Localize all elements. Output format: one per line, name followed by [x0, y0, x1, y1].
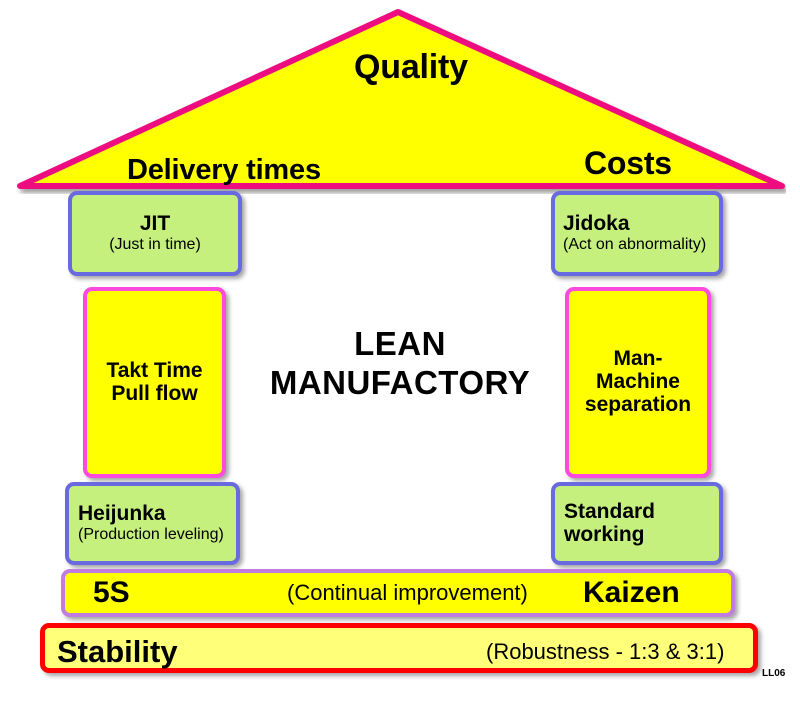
lean-house-diagram: Quality Delivery times Costs JIT (Just i… — [0, 0, 800, 705]
roof-label-quality: Quality — [354, 48, 468, 87]
watermark-label: LL06 — [762, 668, 785, 679]
foundation-label-continual-improvement: (Continual improvement) — [287, 580, 528, 606]
foundation-label-stability: Stability — [57, 634, 178, 670]
pillar-box-takt-time[interactable]: Takt TimePull flow — [83, 287, 226, 478]
pillar-box-jidoka-title: Jidoka — [563, 213, 630, 236]
pillar-box-jidoka-subtitle: (Act on abnormality) — [563, 236, 706, 254]
pillar-box-man-machine-separation-title: Man-Machineseparation — [585, 348, 691, 416]
pillar-box-jit-subtitle: (Just in time) — [109, 236, 201, 254]
pillar-box-heijunka[interactable]: Heijunka (Production leveling) — [65, 482, 240, 565]
pillar-box-jidoka[interactable]: Jidoka (Act on abnormality) — [551, 191, 723, 276]
roof-label-costs: Costs — [584, 145, 672, 182]
pillar-box-jit[interactable]: JIT (Just in time) — [68, 191, 242, 276]
foundation-label-robustness: (Robustness - 1:3 & 3:1) — [486, 639, 724, 665]
pillar-box-heijunka-subtitle: (Production leveling) — [78, 526, 224, 544]
foundation-label-kaizen: Kaizen — [583, 576, 680, 610]
foundation-label-5s: 5S — [93, 576, 130, 610]
pillar-box-standard-working-title: Standardworking — [564, 501, 655, 546]
pillar-box-jit-title: JIT — [140, 213, 170, 236]
roof-label-delivery-times: Delivery times — [127, 154, 321, 187]
pillar-box-man-machine-separation[interactable]: Man-Machineseparation — [565, 287, 711, 478]
pillar-box-heijunka-title: Heijunka — [78, 503, 166, 526]
center-caption: LEANMANUFACTORY — [250, 325, 550, 403]
pillar-box-standard-working[interactable]: Standardworking — [551, 482, 723, 565]
pillar-box-takt-time-title: Takt TimePull flow — [106, 360, 202, 405]
roof: Quality Delivery times Costs — [14, 8, 786, 194]
foundation-bar-stability[interactable]: Stability (Robustness - 1:3 & 3:1) — [40, 623, 758, 673]
foundation-bar-improvement[interactable]: 5S (Continual improvement) Kaizen — [61, 569, 735, 617]
